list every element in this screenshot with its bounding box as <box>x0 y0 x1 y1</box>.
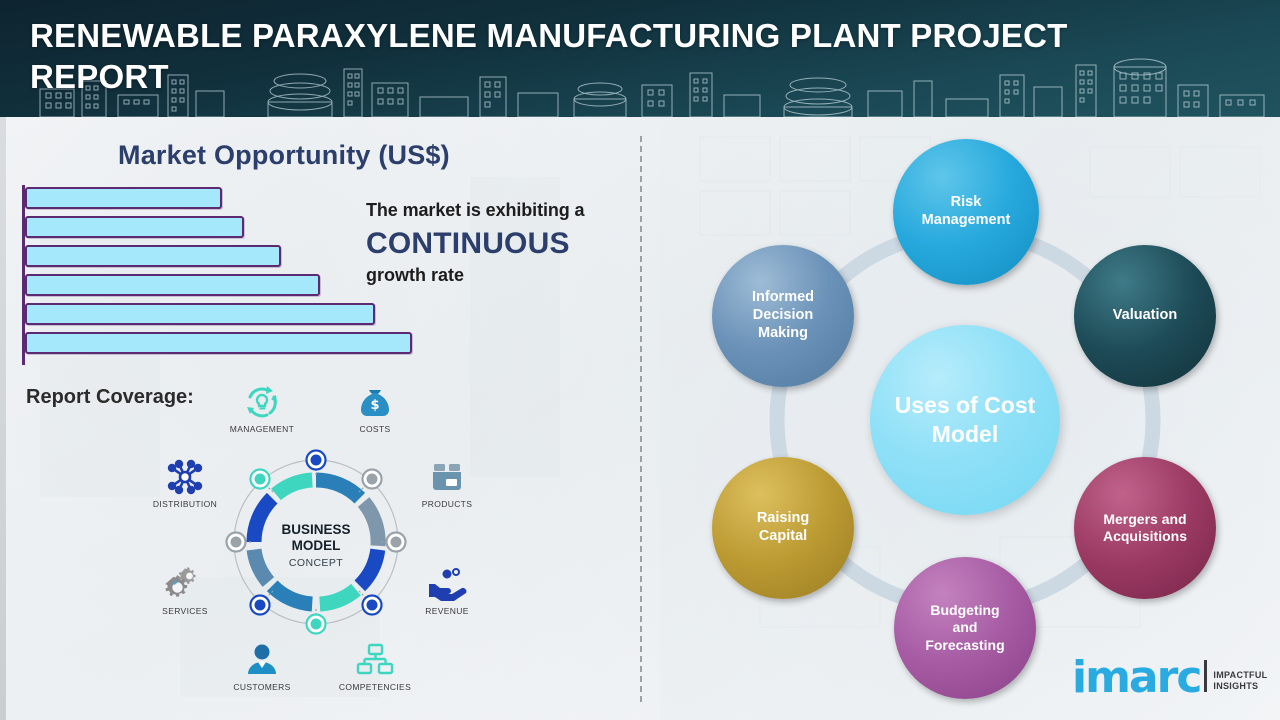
business-model-diagram: BUSINESS MODEL CONCEPT MANAGEMENT <box>130 372 520 712</box>
business-model-line2: MODEL <box>256 538 376 554</box>
cost-model-node-mergers-acquisitions[interactable]: Mergers and Acquisitions <box>1074 457 1216 599</box>
page-title: RENEWABLE PARAXYLENE MANUFACTURING PLANT… <box>30 15 1150 98</box>
coverage-label: DISTRIBUTION <box>130 499 240 509</box>
coverage-item-competencies[interactable]: COMPETENCIES <box>320 640 430 692</box>
network-nodes-icon <box>130 457 240 497</box>
org-chart-icon <box>320 640 430 680</box>
node-line: Making <box>746 325 820 343</box>
open-box-icon <box>392 457 502 497</box>
hand-coins-icon <box>392 564 502 604</box>
coverage-label: PRODUCTS <box>392 499 502 509</box>
chart-bar <box>25 274 320 296</box>
chart-bar <box>25 332 412 354</box>
cost-model-node-informed-decision-making[interactable]: Informed Decision Making <box>712 245 854 387</box>
market-statement-line3: growth rate <box>366 265 636 286</box>
chart-bar <box>25 216 244 238</box>
node-line: Raising <box>751 510 815 528</box>
market-growth-statement: The market is exhibiting a CONTINUOUS gr… <box>366 200 636 286</box>
imarc-logo[interactable]: imarc IMPACTFUL INSIGHTS <box>1072 660 1267 696</box>
node-line: Acquisitions <box>1097 528 1193 545</box>
cost-model-node-risk-management[interactable]: Risk Management <box>893 139 1039 285</box>
node-line: Informed <box>746 289 820 307</box>
svg-text:$: $ <box>370 398 379 413</box>
business-model-line1: BUSINESS <box>256 522 376 538</box>
node-line: Mergers and <box>1097 511 1193 528</box>
cost-model-center-node: Uses of Cost Model <box>870 325 1060 515</box>
chart-bar <box>25 187 222 209</box>
market-statement-line1: The market is exhibiting a <box>366 200 636 221</box>
chart-bar <box>25 245 281 267</box>
node-line: Management <box>916 212 1017 230</box>
cost-model-center-line1: Uses of <box>895 392 978 418</box>
coverage-label: COSTS <box>320 424 430 434</box>
coverage-item-distribution[interactable]: DISTRIBUTION <box>130 457 240 509</box>
coverage-item-revenue[interactable]: REVENUE <box>392 564 502 616</box>
logo-wordmark: imarc <box>1072 660 1200 696</box>
slide-root: RENEWABLE PARAXYLENE MANUFACTURING PLANT… <box>0 0 1280 720</box>
panel-divider <box>640 136 642 702</box>
money-bag-icon: $ <box>320 382 430 422</box>
node-line: Forecasting <box>919 637 1010 654</box>
coverage-item-products[interactable]: PRODUCTS <box>392 457 502 509</box>
gears-icon <box>130 564 240 604</box>
coverage-item-costs[interactable]: $ COSTS <box>320 382 430 434</box>
node-line: Decision <box>746 307 820 325</box>
coverage-label: COMPETENCIES <box>320 682 430 692</box>
coverage-label: CUSTOMERS <box>207 682 317 692</box>
logo-tagline-line2: INSIGHTS <box>1213 681 1267 691</box>
left-border-strip <box>0 117 6 720</box>
coverage-item-management[interactable]: MANAGEMENT <box>207 382 317 434</box>
logo-tagline: IMPACTFUL INSIGHTS <box>1213 670 1267 691</box>
coverage-item-customers[interactable]: CUSTOMERS <box>207 640 317 692</box>
market-statement-emphasis: CONTINUOUS <box>366 227 636 261</box>
cost-model-node-raising-capital[interactable]: Raising Capital <box>712 457 854 599</box>
slide-header: RENEWABLE PARAXYLENE MANUFACTURING PLANT… <box>0 0 1280 117</box>
coverage-item-services[interactable]: SERVICES <box>130 564 240 616</box>
logo-tagline-line1: IMPACTFUL <box>1213 670 1267 680</box>
uses-of-cost-model-diagram: Uses of Cost Model Risk Management Valua… <box>660 117 1280 720</box>
cost-model-node-budgeting-forecasting[interactable]: Budgeting and Forecasting <box>894 557 1036 699</box>
user-person-icon <box>207 640 317 680</box>
node-line: and <box>919 619 1010 636</box>
chart-bar <box>25 303 375 325</box>
node-line: Risk <box>916 194 1017 212</box>
coverage-label: MANAGEMENT <box>207 424 317 434</box>
node-line: Budgeting <box>919 602 1010 619</box>
logo-divider <box>1204 660 1207 692</box>
cost-model-node-valuation[interactable]: Valuation <box>1074 245 1216 387</box>
coverage-label: SERVICES <box>130 606 240 616</box>
market-opportunity-bar-chart <box>22 185 422 365</box>
node-line: Capital <box>751 528 815 546</box>
business-model-line3: CONCEPT <box>256 557 376 569</box>
business-model-center-label: BUSINESS MODEL CONCEPT <box>256 522 376 569</box>
node-line: Valuation <box>1107 307 1183 325</box>
market-opportunity-title: Market Opportunity (US$) <box>118 140 450 171</box>
lightbulb-recycle-icon <box>207 382 317 422</box>
coverage-label: REVENUE <box>392 606 502 616</box>
